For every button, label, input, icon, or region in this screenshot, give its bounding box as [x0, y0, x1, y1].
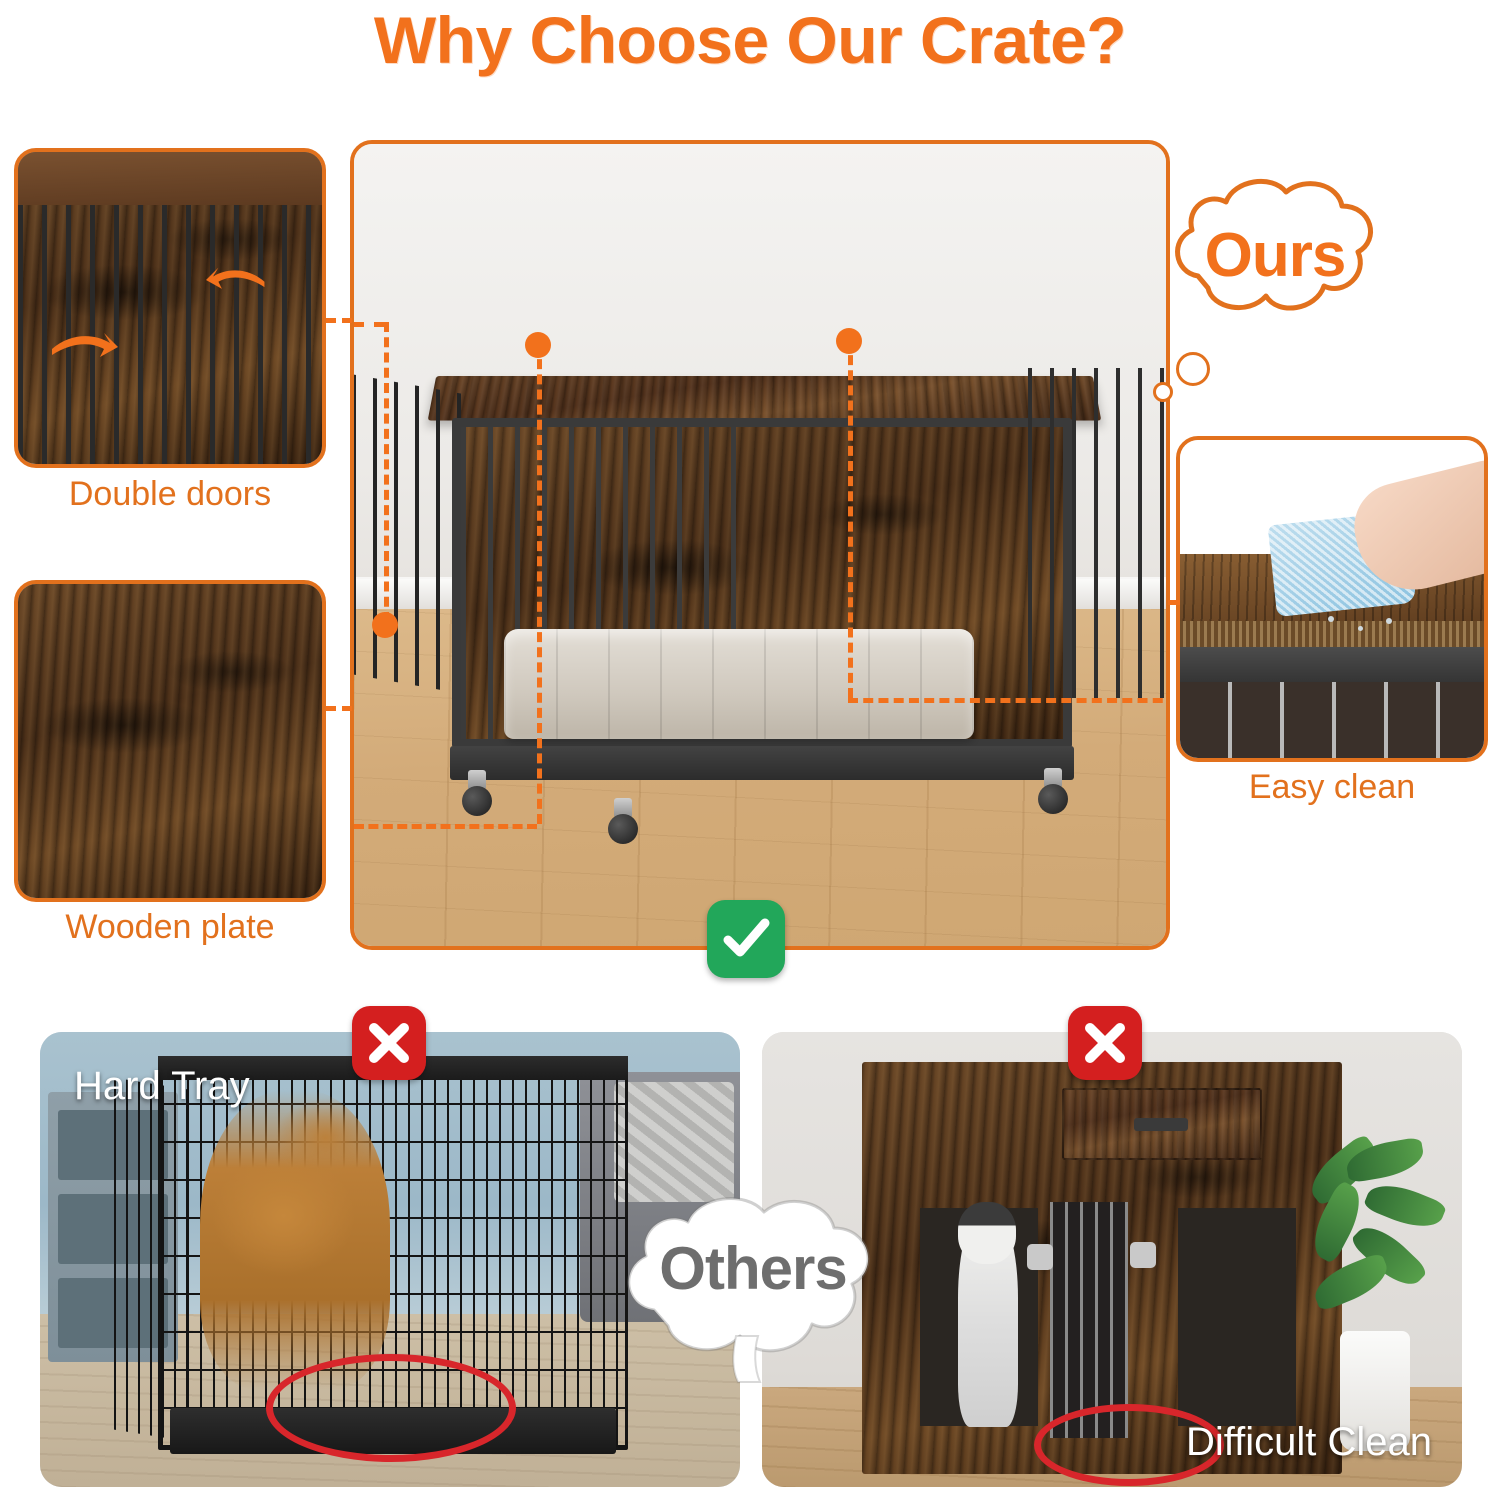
callout-line-center-v [537, 344, 542, 824]
check-badge [707, 900, 785, 978]
page-title: Why Choose Our Crate? [0, 2, 1500, 78]
callout-dot-top-right [836, 328, 862, 354]
tabletop-edge [1176, 621, 1488, 646]
feature-label-double-doors: Double doors [14, 475, 326, 514]
infographic-root: Why Choose Our Crate? Double doors Woode… [0, 0, 1500, 1491]
dog [200, 1090, 390, 1390]
bubble-tail-small [1153, 382, 1173, 402]
others-label-difficult-clean: Difficult Clean [1186, 1420, 1432, 1465]
cross-mark-icon [1081, 1019, 1129, 1067]
latch-arrow-icon-right [206, 262, 268, 298]
check-mark-icon [720, 913, 772, 965]
callout-line-plate-in [354, 824, 537, 829]
droplet-icon [1328, 616, 1334, 622]
problem-highlight-ellipse [266, 1354, 516, 1462]
connector-clean [1168, 600, 1180, 605]
cross-badge-left [352, 1006, 426, 1080]
crate-side-mesh [114, 1078, 194, 1443]
dog-head [958, 1202, 1016, 1264]
feature-label-wooden-plate: Wooden plate [14, 908, 326, 947]
latch-arrow-icon-left [48, 327, 118, 367]
connector-plate [326, 706, 352, 711]
feature-panel-easy-clean[interactable] [1176, 436, 1488, 762]
crate-right-door-bars [1028, 368, 1168, 698]
cross-mark-icon [365, 1019, 413, 1067]
cross-badge-right [1068, 1006, 1142, 1080]
potted-plant-leaves [1294, 1147, 1444, 1337]
crate-base-tray [450, 746, 1074, 780]
callout-line-clean-in [848, 698, 1170, 703]
drawer-handle [1134, 1118, 1188, 1131]
feature-panel-wooden-plate[interactable] [14, 580, 326, 902]
hinge-icon-right [1130, 1242, 1156, 1268]
center-bars [1050, 1202, 1128, 1438]
dog-cushion [504, 629, 974, 739]
hero-product-photo[interactable] [350, 140, 1170, 950]
crate-wood-top [428, 376, 1102, 421]
caster-wheel [602, 798, 642, 844]
others-label-hard-tray: Hard Tray [74, 1064, 250, 1109]
hinge-icon-left [1027, 1244, 1053, 1270]
droplet-icon [1386, 618, 1392, 624]
caster-wheel [456, 770, 496, 816]
crate-left-side-panel [352, 374, 462, 693]
door-wire-window [1178, 1208, 1296, 1426]
wooden-plate-photo [18, 584, 322, 898]
ours-label: Ours [1160, 220, 1390, 291]
cabinet-door-right [1172, 1202, 1302, 1432]
crate-bars-below [1176, 682, 1488, 758]
connector-doors [326, 318, 352, 323]
callout-line-clean-v [848, 340, 853, 698]
ours-speech-bubble: Ours [1160, 168, 1390, 343]
others-speech-bubble: Others [608, 1186, 898, 1386]
feature-panel-double-doors[interactable] [14, 148, 326, 468]
caster-wheel [1032, 768, 1072, 814]
blanket [614, 1082, 734, 1202]
feature-label-easy-clean: Easy clean [1176, 768, 1488, 807]
droplet-icon [1358, 626, 1363, 631]
crate-top-surface [18, 152, 322, 205]
callout-dot-top-center [525, 332, 551, 358]
others-label: Others [608, 1234, 898, 1303]
callout-dot-doors [372, 612, 398, 638]
metal-rail [1176, 647, 1488, 682]
bubble-tail-large [1176, 352, 1210, 386]
callout-line-doors-in [354, 322, 384, 327]
dog-crate-furniture [414, 374, 1114, 804]
callout-line-doors-v [384, 322, 389, 622]
